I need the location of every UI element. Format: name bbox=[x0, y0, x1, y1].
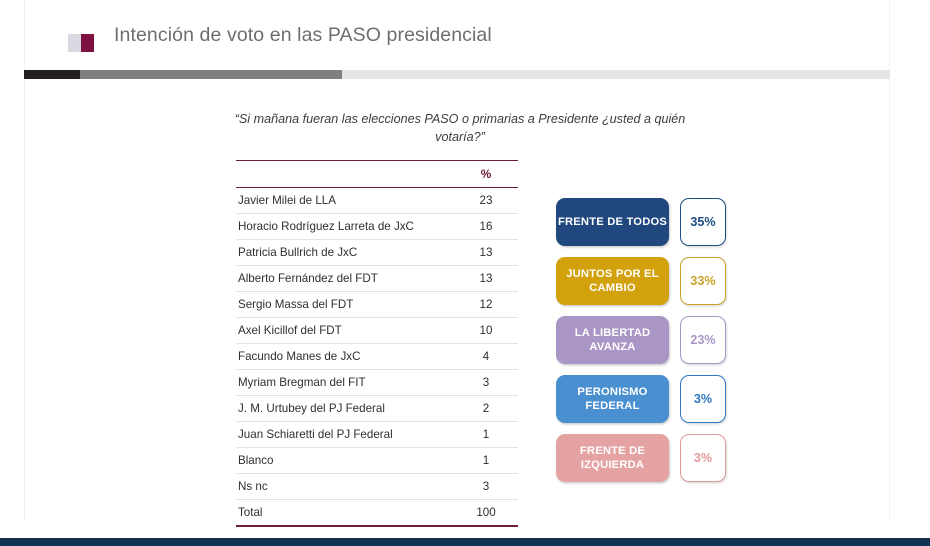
table-row: Sergio Massa del FDT12 bbox=[236, 292, 518, 318]
table-row: J. M. Urtubey del PJ Federal2 bbox=[236, 396, 518, 422]
table-cell-candidate: Horacio Rodríguez Larreta de JxC bbox=[236, 214, 454, 240]
table-row: Ns nc3 bbox=[236, 474, 518, 500]
table-cell-candidate: J. M. Urtubey del PJ Federal bbox=[236, 396, 454, 422]
results-table: % Javier Milei de LLA23Horacio Rodríguez… bbox=[236, 160, 518, 527]
table-cell-percent: 1 bbox=[454, 422, 518, 448]
table-row: Axel Kicillof del FDT10 bbox=[236, 318, 518, 344]
column-header-candidate bbox=[236, 161, 454, 188]
table-row: Total100 bbox=[236, 500, 518, 527]
coalition-name-chip: JUNTOS POR EL CAMBIO bbox=[556, 257, 669, 305]
coalition-name-chip: PERONISMO FEDERAL bbox=[556, 375, 669, 423]
column-header-percent: % bbox=[454, 161, 518, 188]
table-cell-percent: 12 bbox=[454, 292, 518, 318]
table-cell-percent: 3 bbox=[454, 370, 518, 396]
table-row: Javier Milei de LLA23 bbox=[236, 188, 518, 214]
coalition-percent-badge: 33% bbox=[680, 257, 726, 305]
page-title: Intención de voto en las PASO presidenci… bbox=[114, 24, 492, 47]
institute-logo-icon bbox=[68, 34, 94, 52]
table-cell-candidate: Patricia Bullrich de JxC bbox=[236, 240, 454, 266]
coalition-percent-badge: 35% bbox=[680, 198, 726, 246]
footer-band bbox=[0, 538, 930, 546]
table-cell-candidate: Javier Milei de LLA bbox=[236, 188, 454, 214]
coalition-percent-badge: 3% bbox=[680, 375, 726, 423]
table-row: Blanco1 bbox=[236, 448, 518, 474]
slide-header: Intención de voto en las PASO presidenci… bbox=[24, 14, 890, 70]
table-body: Javier Milei de LLA23Horacio Rodríguez L… bbox=[236, 188, 518, 527]
table-header-row: % bbox=[236, 161, 518, 188]
coalition-percent-badge: 3% bbox=[680, 434, 726, 482]
header-divider-rule bbox=[24, 70, 890, 79]
table-cell-candidate: Sergio Massa del FDT bbox=[236, 292, 454, 318]
table-head: % bbox=[236, 161, 518, 188]
table-cell-candidate: Axel Kicillof del FDT bbox=[236, 318, 454, 344]
table-cell-percent: 2 bbox=[454, 396, 518, 422]
coalition-percent-badge: 23% bbox=[680, 316, 726, 364]
table-cell-percent: 4 bbox=[454, 344, 518, 370]
table-row: Facundo Manes de JxC4 bbox=[236, 344, 518, 370]
table-row: Alberto Fernández del FDT13 bbox=[236, 266, 518, 292]
table-cell-candidate: Juan Schiaretti del PJ Federal bbox=[236, 422, 454, 448]
table-cell-candidate: Myriam Bregman del FIT bbox=[236, 370, 454, 396]
table-cell-candidate: Facundo Manes de JxC bbox=[236, 344, 454, 370]
table-row: Patricia Bullrich de JxC13 bbox=[236, 240, 518, 266]
results-table-container: % Javier Milei de LLA23Horacio Rodríguez… bbox=[236, 160, 518, 527]
table-row: Horacio Rodríguez Larreta de JxC16 bbox=[236, 214, 518, 240]
table-cell-percent: 3 bbox=[454, 474, 518, 500]
table-cell-percent: 16 bbox=[454, 214, 518, 240]
logo-block-left bbox=[68, 34, 81, 52]
table-row: Myriam Bregman del FIT3 bbox=[236, 370, 518, 396]
coalition-row: FRENTE DE IZQUIERDA3% bbox=[556, 434, 726, 482]
table-cell-percent: 13 bbox=[454, 266, 518, 292]
table-cell-candidate: Total bbox=[236, 500, 454, 527]
table-cell-percent: 100 bbox=[454, 500, 518, 527]
table-cell-percent: 23 bbox=[454, 188, 518, 214]
coalition-row: PERONISMO FEDERAL3% bbox=[556, 375, 726, 423]
logo-block-right bbox=[81, 34, 94, 52]
coalition-name-chip: FRENTE DE TODOS bbox=[556, 198, 669, 246]
table-cell-percent: 10 bbox=[454, 318, 518, 344]
table-cell-candidate: Ns nc bbox=[236, 474, 454, 500]
table-cell-percent: 13 bbox=[454, 240, 518, 266]
coalition-name-chip: LA LIBERTAD AVANZA bbox=[556, 316, 669, 364]
rule-segment-dark bbox=[24, 70, 80, 79]
table-cell-candidate: Alberto Fernández del FDT bbox=[236, 266, 454, 292]
coalition-name-chip: FRENTE DE IZQUIERDA bbox=[556, 434, 669, 482]
coalition-row: JUNTOS POR EL CAMBIO33% bbox=[556, 257, 726, 305]
rule-segment-gray bbox=[80, 70, 342, 79]
table-row: Juan Schiaretti del PJ Federal1 bbox=[236, 422, 518, 448]
coalition-summary-list: FRENTE DE TODOS35%JUNTOS POR EL CAMBIO33… bbox=[556, 198, 726, 482]
table-cell-percent: 1 bbox=[454, 448, 518, 474]
coalition-row: FRENTE DE TODOS35% bbox=[556, 198, 726, 246]
survey-question: “Si mañana fueran las elecciones PASO o … bbox=[215, 110, 705, 146]
rule-segment-light bbox=[342, 70, 890, 79]
table-cell-candidate: Blanco bbox=[236, 448, 454, 474]
coalition-row: LA LIBERTAD AVANZA23% bbox=[556, 316, 726, 364]
slide-page: Intención de voto en las PASO presidenci… bbox=[0, 0, 930, 546]
